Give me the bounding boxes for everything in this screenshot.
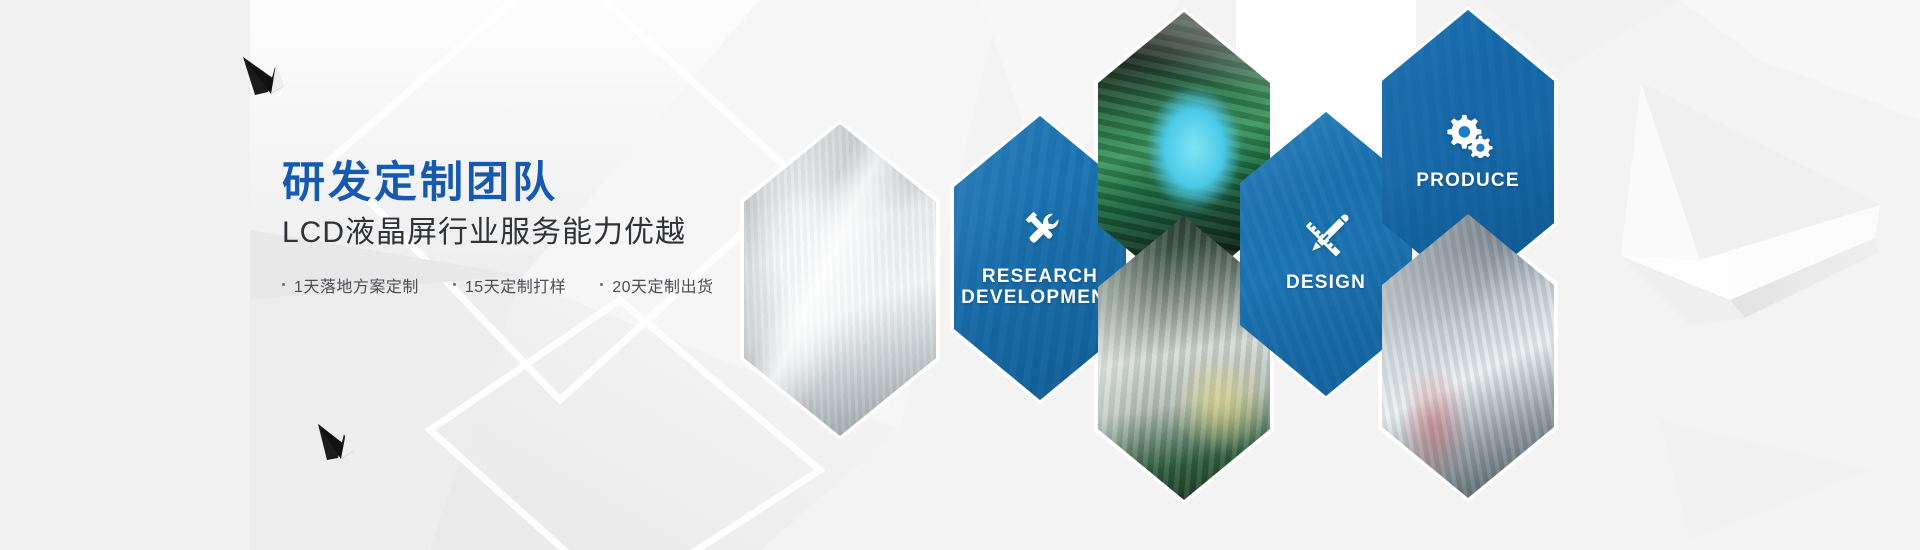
feature-label-1: 1天落地方案定制 xyxy=(294,273,419,297)
bullet-dot-icon xyxy=(453,283,456,286)
feature-label-3: 20天定制出货 xyxy=(612,273,713,297)
feature-label-2: 15天定制打样 xyxy=(465,273,566,297)
hexagon-label-research-development: RESEARCH DEVELOPMENT xyxy=(961,266,1119,309)
hex-label-line-2: DEVELOPMENT xyxy=(961,287,1119,308)
banner-subline: LCD液晶屏行业服务能力优越 xyxy=(282,216,902,251)
hero-banner: RESEARCH DEVELOPMENT xyxy=(0,0,1920,550)
gears-icon xyxy=(1443,112,1493,158)
bullet-dot-icon xyxy=(282,283,285,286)
hexagon-label-design: DESIGN xyxy=(1286,272,1366,293)
bullet-dot-icon xyxy=(600,283,603,286)
feature-item-1: 1天落地方案定制 xyxy=(282,273,419,297)
banner-headline: 研发定制团队 xyxy=(282,160,902,206)
banner-feature-list: 1天落地方案定制 15天定制打样 20天定制出货 xyxy=(282,273,902,297)
pencil-ruler-icon xyxy=(1303,214,1349,260)
wrench-screwdriver-icon xyxy=(1017,208,1063,254)
banner-text-block: 研发定制团队 LCD液晶屏行业服务能力优越 1天落地方案定制 15天定制打样 2… xyxy=(282,160,902,297)
hexagon-label-produce: PRODUCE xyxy=(1416,170,1519,191)
feature-item-2: 15天定制打样 xyxy=(453,273,566,297)
hex-label-line-1: RESEARCH xyxy=(982,266,1098,287)
feature-item-3: 20天定制出货 xyxy=(600,273,713,297)
